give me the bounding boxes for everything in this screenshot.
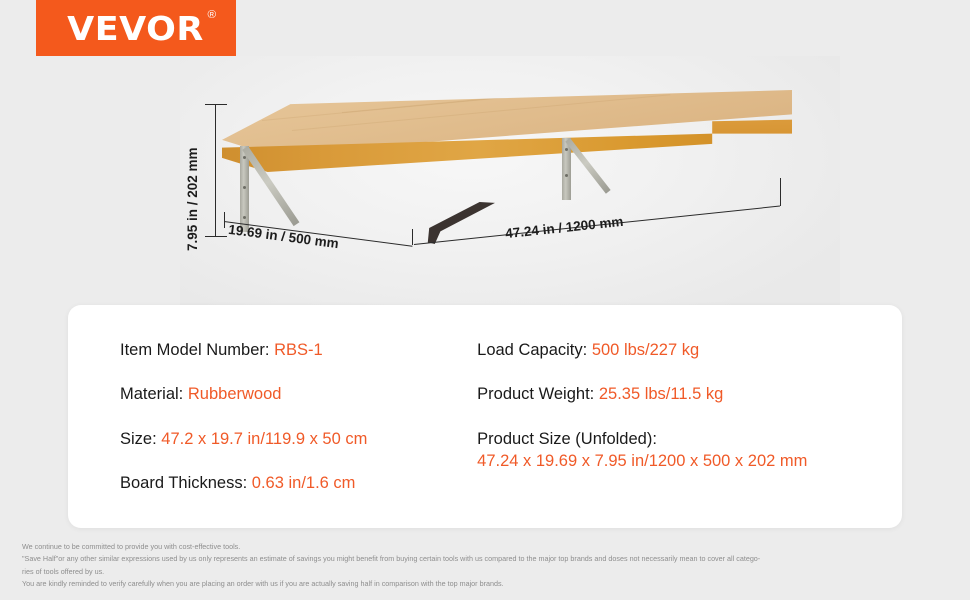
spec-value: 47.24 x 19.69 x 7.95 in/1200 x 500 x 202… (477, 450, 874, 472)
brand-wordmark-text: VEVOR (68, 9, 205, 48)
height-tick-top (205, 104, 227, 105)
spec-row-model-number: Item Model Number: RBS-1 (120, 339, 477, 361)
bracket-bolt (243, 156, 246, 159)
height-dimension-line (215, 104, 216, 236)
spec-label: Item Model Number: (120, 341, 269, 359)
spec-label: Material: (120, 385, 183, 403)
height-tick-bottom (205, 236, 227, 237)
footer-line-4: You are kindly reminded to verify carefu… (22, 578, 952, 590)
spec-row-board-thickness: Board Thickness: 0.63 in/1.6 cm (120, 472, 477, 494)
spec-label: Load Capacity: (477, 341, 587, 359)
brand-wordmark: VEVOR ® (68, 12, 205, 45)
footer-line-1: We continue to be committed to provide y… (22, 541, 952, 553)
spec-value: Rubberwood (188, 385, 282, 403)
spec-label: Product Weight: (477, 385, 594, 403)
spec-row-material: Material: Rubberwood (120, 383, 477, 405)
bracket-bolt (565, 174, 568, 177)
folding-table-illustration (222, 90, 792, 220)
width-tick-right (780, 178, 781, 206)
specification-card: Item Model Number: RBS-1 Material: Rubbe… (68, 305, 902, 528)
product-spec-page: VEVOR ® (0, 0, 970, 600)
specification-column-left: Item Model Number: RBS-1 Material: Rubbe… (120, 339, 477, 516)
spec-row-load-capacity: Load Capacity: 500 lbs/227 kg (477, 339, 874, 361)
spec-label: Size: (120, 430, 157, 448)
footer-line-2: "Save Half"or any other similar expressi… (22, 553, 952, 565)
spec-value: 47.2 x 19.7 in/119.9 x 50 cm (161, 430, 367, 448)
spec-value: 25.35 lbs/11.5 kg (599, 385, 723, 403)
spec-row-product-weight: Product Weight: 25.35 lbs/11.5 kg (477, 383, 874, 405)
bracket-bolt (243, 216, 246, 219)
spec-value: 0.63 in/1.6 cm (252, 474, 356, 492)
spec-label: Product Size (Unfolded): (477, 430, 657, 448)
depth-tick-right (412, 229, 413, 245)
footer-line-3: ries of tools offered by us. (22, 566, 952, 578)
footer-disclaimer: We continue to be committed to provide y… (22, 541, 952, 591)
bracket-bolt (565, 148, 568, 151)
height-dimension-label: 7.95 in / 202 mm (185, 147, 200, 251)
specification-column-right: Load Capacity: 500 lbs/227 kg Product We… (477, 339, 874, 516)
registered-trademark-icon: ® (208, 10, 217, 21)
bracket-bolt (243, 186, 246, 189)
spec-row-product-size-unfolded: Product Size (Unfolded): 47.24 x 19.69 x… (477, 428, 874, 473)
spec-row-size: Size: 47.2 x 19.7 in/119.9 x 50 cm (120, 428, 477, 450)
spec-label: Board Thickness: (120, 474, 247, 492)
spec-value: RBS-1 (274, 341, 323, 359)
depth-tick-left (224, 212, 225, 228)
spec-value: 500 lbs/227 kg (592, 341, 699, 359)
product-hero-image: 7.95 in / 202 mm 19.69 in / 500 mm 47.24… (0, 56, 970, 306)
specification-grid: Item Model Number: RBS-1 Material: Rubbe… (120, 339, 874, 516)
brand-logo-banner: VEVOR ® (36, 0, 236, 56)
